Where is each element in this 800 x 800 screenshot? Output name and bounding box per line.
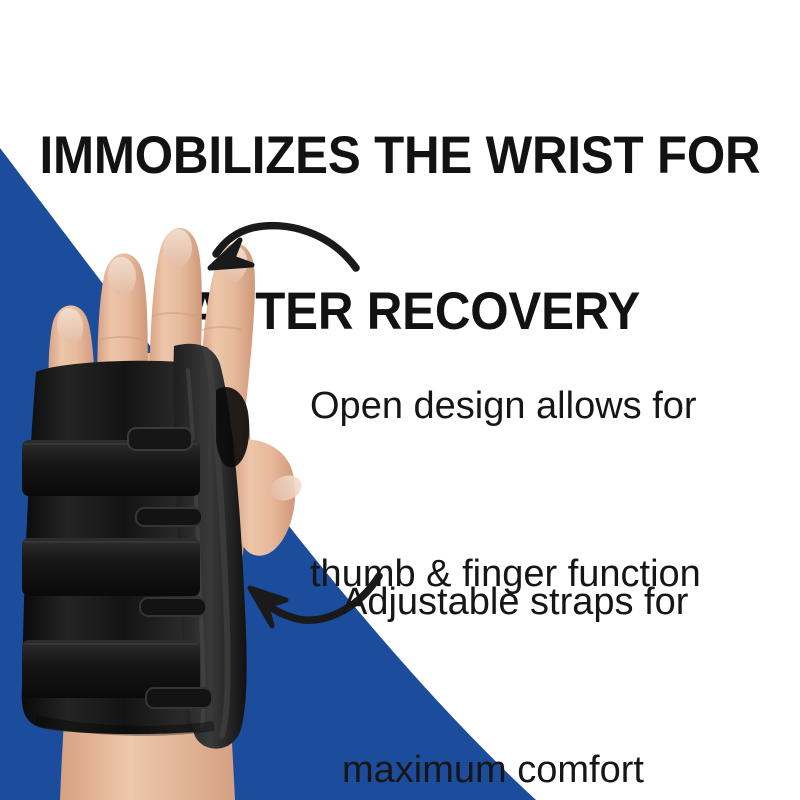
callout-adjustable-straps: Adjustable straps for maximum comfort (342, 462, 782, 800)
strap-middle (22, 538, 200, 596)
buckle-2 (136, 508, 202, 526)
callout-adjustable-straps-line-1: Adjustable straps for (342, 574, 782, 630)
buckle-1 (128, 428, 192, 450)
brace-straps (22, 440, 200, 698)
buckle-3 (140, 598, 206, 616)
callout-adjustable-straps-line-2: maximum comfort (342, 742, 782, 798)
buckle-4 (146, 688, 212, 708)
wrist-brace-product-photo (0, 140, 330, 800)
nail-middle (164, 229, 192, 267)
callout-open-design-line-1: Open design allows for (310, 378, 780, 434)
infographic-canvas: IMMOBILIZES THE WRIST FOR FASTER RECOVER… (0, 0, 800, 800)
